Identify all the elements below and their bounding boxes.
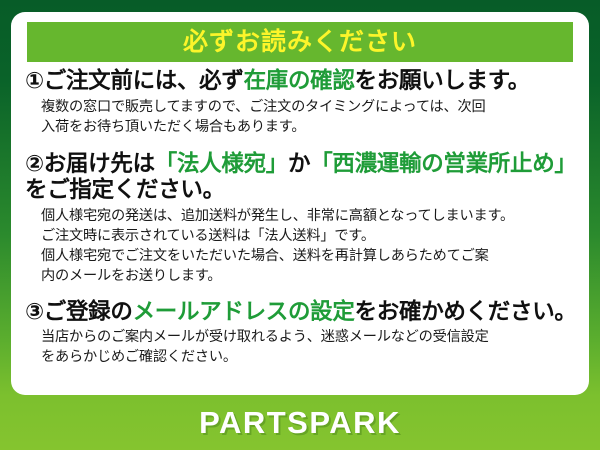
notice-item-3-heading: ③ご登録のメールアドレスの設定をお確かめください。	[25, 299, 577, 326]
notice-header-bar: 必ずお読みください	[27, 22, 573, 62]
notice-item-2: ②お届け先は「法人様宛」か「西濃運輸の営業所止め」をご指定ください。 個人様宅宛…	[25, 151, 577, 287]
notice-item-3-head-post: をお確かめください。	[355, 299, 577, 324]
notice-item-1-subline-1: 複数の窓口で販売してますので、ご注文のタイミングによっては、次回	[41, 97, 577, 117]
notice-item-3-subline-1: 当店からのご案内メールが受け取れるよう、迷惑メールなどの受信設定	[41, 327, 577, 347]
notice-item-2-subline-1: 個人様宅宛の発送は、追加送料が発生し、非常に高額となってしまいます。	[41, 206, 577, 226]
notice-item-1-subline-2: 入荷をお待ち頂いただく場合もあります。	[41, 117, 577, 137]
notice-item-3-head-pre: ご登録の	[44, 299, 133, 324]
notice-item-2-head-mid: か	[288, 151, 310, 176]
notice-footer: PARTSPARK	[0, 395, 600, 450]
notice-item-3-head-highlight: メールアドレスの設定	[133, 299, 355, 324]
notice-frame: 必ずお読みください ①ご注文前には、必ず在庫の確認をお願いします。 複数の窓口で…	[0, 0, 600, 450]
notice-item-2-head-highlight-2: 「西濃運輸の営業所止め」	[310, 151, 576, 176]
notice-item-2-subline-2: ご注文時に表示されている送料は「法人送料」です。	[41, 226, 577, 246]
notice-title: 必ずお読みください	[183, 30, 417, 55]
notice-item-2-head-pre: お届け先は	[44, 151, 155, 176]
notice-item-1-marker: ①	[25, 68, 44, 93]
notice-item-1: ①ご注文前には、必ず在庫の確認をお願いします。 複数の窓口で販売してますので、ご…	[25, 68, 577, 137]
notice-item-2-heading: ②お届け先は「法人様宛」か「西濃運輸の営業所止め」をご指定ください。	[25, 151, 577, 204]
notice-item-2-subline-3: 個人様宅宛でご注文をいただいた場合、送料を再計算しあらためてご案	[41, 246, 577, 266]
notice-item-2-head-highlight: 「法人様宛」	[155, 151, 288, 176]
notice-item-3-subtext: 当店からのご案内メールが受け取れるよう、迷惑メールなどの受信設定 をあらかじめご…	[25, 327, 577, 367]
notice-item-1-head-pre: ご注文前には、必ず	[44, 68, 244, 93]
notice-item-3-marker: ③	[25, 299, 44, 324]
notice-item-3-subline-2: をあらかじめご確認ください。	[41, 347, 577, 367]
notice-panel: 必ずお読みください ①ご注文前には、必ず在庫の確認をお願いします。 複数の窓口で…	[11, 12, 589, 395]
notice-items: ①ご注文前には、必ず在庫の確認をお願いします。 複数の窓口で販売してますので、ご…	[25, 68, 577, 367]
notice-item-1-heading: ①ご注文前には、必ず在庫の確認をお願いします。	[25, 68, 577, 95]
notice-item-1-subtext: 複数の窓口で販売してますので、ご注文のタイミングによっては、次回 入荷をお待ち頂…	[25, 97, 577, 137]
notice-item-3: ③ご登録のメールアドレスの設定をお確かめください。 当店からのご案内メールが受け…	[25, 299, 577, 368]
notice-item-2-subline-4: 内のメールをお送りします。	[41, 266, 577, 286]
notice-item-1-head-post: をお願いします。	[355, 68, 530, 93]
notice-item-2-head-post: をご指定ください。	[25, 177, 225, 202]
notice-item-2-subtext: 個人様宅宛の発送は、追加送料が発生し、非常に高額となってしまいます。 ご注文時に…	[25, 206, 577, 287]
notice-item-1-head-highlight: 在庫の確認	[244, 68, 355, 93]
brand-wordmark: PARTSPARK	[199, 405, 401, 441]
notice-item-2-marker: ②	[25, 151, 44, 176]
